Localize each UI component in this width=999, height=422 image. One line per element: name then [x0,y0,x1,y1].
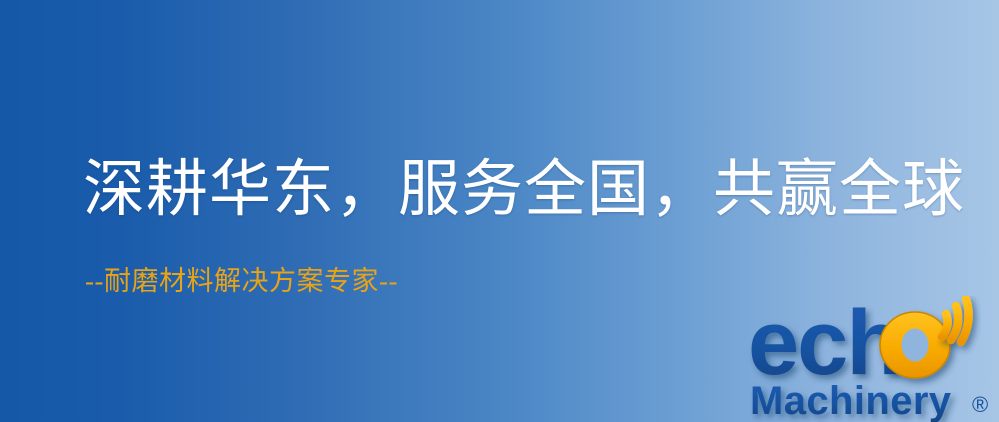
hero-banner: 深耕华东，服务全国，共赢全球 --耐磨材料解决方案专家-- [0,0,999,422]
signal-wave-icon [942,299,969,342]
logo-machinery-word: Machinery [750,379,952,422]
banner-headline: 深耕华东，服务全国，共赢全球 [83,155,943,225]
logo-svg: ech Machinery ® [748,296,999,422]
registered-trademark-mark: ® [972,392,988,417]
echo-machinery-logo: ech Machinery ® [748,296,999,422]
logo-gold-o [880,312,950,378]
banner-subtitle: --耐磨材料解决方案专家-- [85,265,398,297]
svg-text:Machinery: Machinery [750,379,952,422]
